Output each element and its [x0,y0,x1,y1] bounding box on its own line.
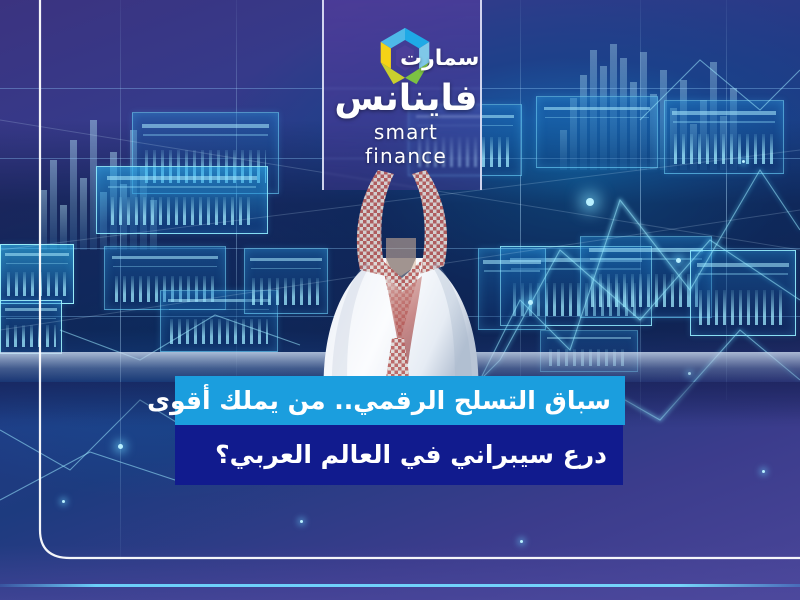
brand-name-arabic-top: سمارت [400,46,479,71]
bottom-fade-overlay [0,545,800,600]
headline-line-2: درع سيبراني في العالم العربي؟ [175,425,623,485]
bottom-accent-line [0,584,800,587]
headline-bar-secondary: درع سيبراني في العالم العربي؟ [175,425,623,485]
brand-name-arabic-main: فاينانس [330,80,482,118]
social-card: سمارت فاينانس smart finance سباق التسلح … [0,0,800,600]
headline-bar-primary: سباق التسلح الرقمي.. من يملك أقوى [175,376,625,425]
person-illustration [286,150,516,400]
background-monitor [0,300,62,354]
background-monitor [690,250,796,336]
brand-name-english: smart finance [330,120,482,168]
headline-line-1: سباق التسلح الرقمي.. من يملك أقوى [175,376,625,425]
background-monitor [0,244,74,304]
background-grid-line [520,0,521,400]
background-monitor [664,100,784,174]
background-monitor [536,96,658,168]
background-monitor [96,166,268,234]
background-grid-line [726,0,727,400]
